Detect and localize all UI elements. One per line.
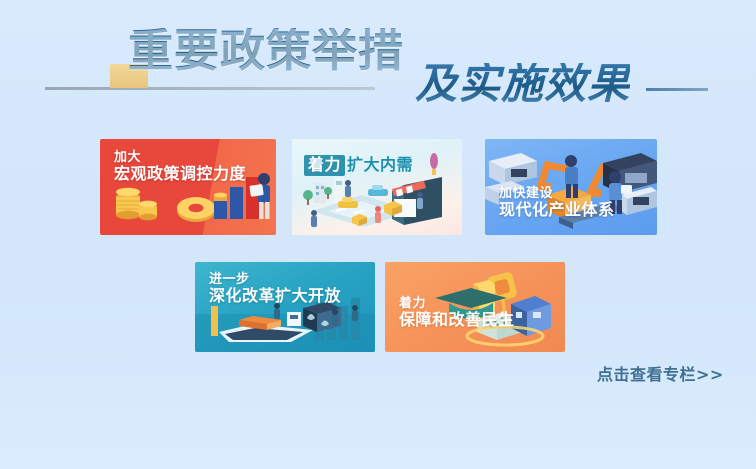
card-5-label: 着力 保障和改善民生 bbox=[399, 296, 515, 330]
card-3-label: 加快建设 现代化产业体系 bbox=[499, 186, 615, 220]
policy-card-reform-opening[interactable]: 进一步 深化改革扩大开放 bbox=[195, 262, 375, 352]
card-5-line2: 保障和改善民生 bbox=[399, 311, 515, 330]
slide-canvas: 重要政策举措 及实施效果 bbox=[0, 0, 756, 469]
card-1-line2: 宏观政策调控力度 bbox=[114, 165, 246, 184]
card-4-line2: 深化改革扩大开放 bbox=[209, 287, 341, 306]
header: 重要政策举措 及实施效果 bbox=[0, 0, 756, 130]
card-2-illustration bbox=[292, 139, 462, 235]
page-title-primary: 重要政策举措 bbox=[128, 28, 404, 73]
card-4-label: 进一步 深化改革扩大开放 bbox=[209, 272, 341, 306]
page-title-secondary: 及实施效果 bbox=[415, 63, 630, 105]
card-2-line2: 扩大内需 bbox=[347, 155, 413, 174]
policy-card-macro-control[interactable]: 加大 宏观政策调控力度 bbox=[100, 139, 276, 235]
card-2-line1: 着力 bbox=[304, 155, 345, 176]
header-rule-left bbox=[45, 87, 375, 90]
policy-card-expand-demand[interactable]: 着力扩大内需 bbox=[292, 139, 462, 235]
header-rule-right bbox=[646, 88, 708, 91]
card-3-line2: 现代化产业体系 bbox=[499, 201, 615, 220]
card-1-label: 加大 宏观政策调控力度 bbox=[114, 150, 246, 184]
policy-card-modern-industry[interactable]: 加快建设 现代化产业体系 bbox=[485, 139, 657, 235]
card-2-label: 着力扩大内需 bbox=[304, 155, 413, 176]
policy-card-livelihood[interactable]: 着力 保障和改善民生 bbox=[385, 262, 565, 352]
view-column-link[interactable]: 点击查看专栏>> bbox=[597, 361, 724, 385]
